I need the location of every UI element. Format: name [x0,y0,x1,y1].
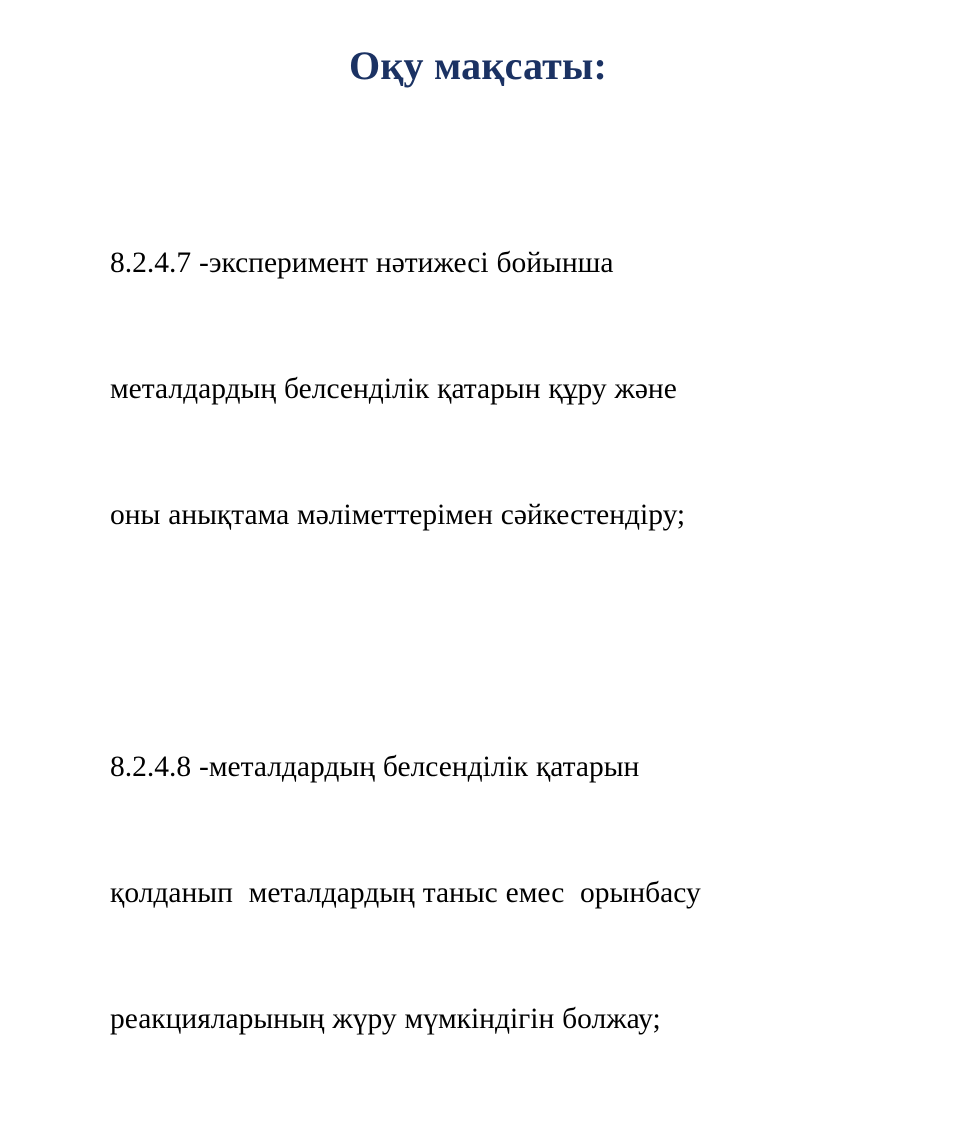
objective-line: реакцияларының жүру мүмкіндігін болжау; [110,998,900,1040]
objective-line: металдардың белсенділік қатарын құру жән… [110,368,900,410]
objective-line: 8.2.4.7 -эксперимент нәтижесі бойынша [110,242,900,284]
objectives-list: 8.2.4.7 -эксперимент нәтижесі бойынша ме… [110,158,900,1124]
objective-line: оны анықтама мәліметтерімен сәйкестендір… [110,494,900,536]
slide-canvas: Оқу мақсаты: 8.2.4.7 -эксперимент нәтиже… [0,0,960,720]
list-item: 8.2.4.7 -эксперимент нәтижесі бойынша ме… [110,158,900,620]
page-title: Оқу мақсаты: [0,42,956,90]
objective-line: 8.2.4.8 -металдардың белсенділік қатарын [110,746,900,788]
list-item: 8.2.4.8 -металдардың белсенділік қатарын… [110,662,900,1124]
paragraph-spacer [110,620,900,662]
objective-line: қолданып металдардың таныс емес орынбасу [110,872,900,914]
